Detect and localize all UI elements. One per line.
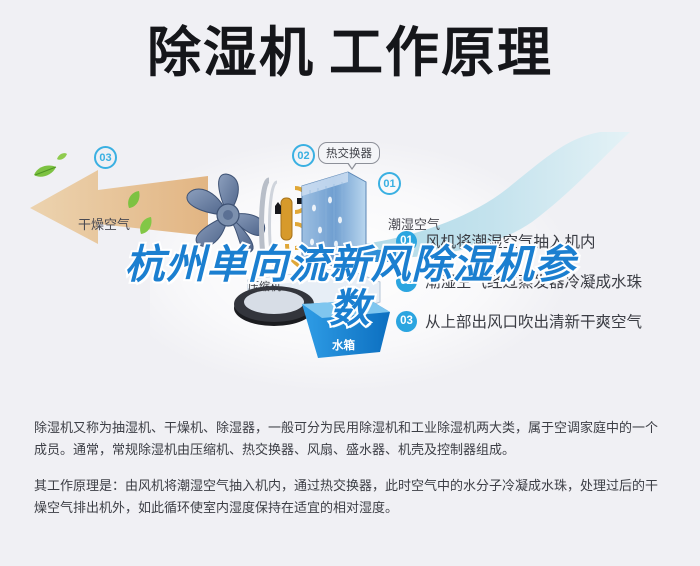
steps-list: 01 风机将潮湿空气抽入机内 02 潮湿空气经过蒸发器冷凝成水珠 03 从上部出…: [396, 228, 696, 348]
air-inlet-arrow-icon: [352, 246, 396, 266]
step-text: 潮湿空气经过蒸发器冷凝成水珠: [425, 270, 642, 292]
infographic-page: 除湿机工作原理: [0, 0, 700, 566]
water-tank-label: 水箱: [332, 337, 355, 353]
dry-air-label: 干燥空气: [78, 214, 130, 233]
step-number-badge: 03: [396, 311, 417, 332]
dry-air-number-badge: 03: [94, 146, 117, 169]
step-number-badge: 02: [396, 271, 417, 292]
humid-air-number-badge: 01: [378, 172, 401, 195]
leaf-icon: [138, 216, 154, 236]
title-part-2: 工作原理: [329, 21, 553, 84]
heat-exchanger-number-badge: 02: [292, 144, 315, 167]
page-title: 除湿机工作原理: [0, 26, 700, 80]
list-item: 03 从上部出风口吹出清新干爽空气: [396, 308, 696, 334]
paragraph-1: 除湿机又称为抽湿机、干燥机、除湿器，一般可分为民用除湿机和工业除湿机两大类，属于…: [34, 418, 668, 462]
paragraph-2: 其工作原理是：由风机将潮湿空气抽入机内，通过热交换器，此时空气中的水分子冷凝成水…: [34, 476, 668, 520]
leaf-icon: [56, 152, 68, 162]
leaf-icon: [126, 190, 142, 210]
list-item: 01 风机将潮湿空气抽入机内: [396, 228, 696, 254]
body-copy: 除湿机又称为抽湿机、干燥机、除湿器，一般可分为民用除湿机和工业除湿机两大类，属于…: [34, 418, 668, 534]
title-part-1: 除湿机: [147, 21, 315, 84]
step-number-badge: 01: [396, 231, 417, 252]
compressor-label: 压缩机: [248, 278, 281, 294]
heat-exchanger-label: 热交换器: [326, 146, 372, 160]
step-text: 风机将潮湿空气抽入机内: [425, 230, 596, 252]
list-item: 02 潮湿空气经过蒸发器冷凝成水珠: [396, 268, 696, 294]
heat-exchanger-callout: 热交换器: [318, 142, 380, 164]
step-text: 从上部出风口吹出清新干爽空气: [425, 310, 642, 332]
leaf-icon: [32, 164, 58, 180]
